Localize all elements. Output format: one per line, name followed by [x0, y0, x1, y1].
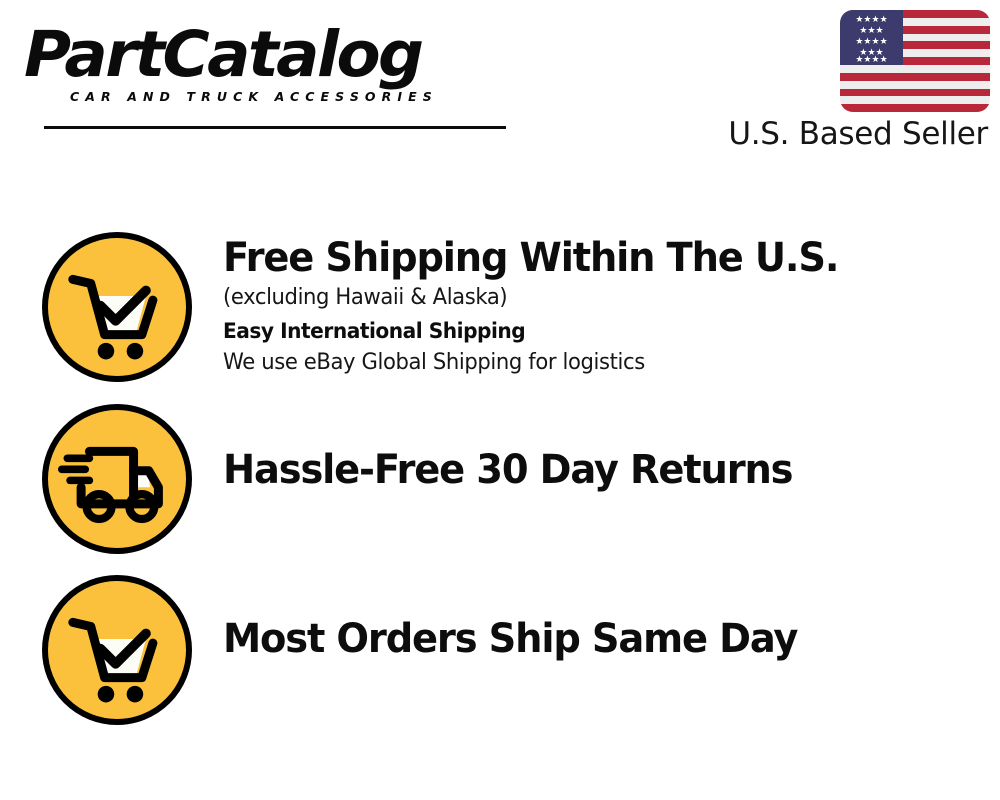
feature-sub-title: Easy International Shipping [223, 314, 838, 348]
feature-sub-note: We use eBay Global Shipping for logistic… [223, 348, 838, 378]
brand-tagline: CAR AND TRUCK ACCESSORIES [70, 89, 494, 104]
feature-row: Free Shipping Within The U.S. (excluding… [0, 232, 1000, 382]
brand-wordmark: PartCatalog [24, 22, 503, 88]
us-based-seller-label: U.S. Based Seller [728, 116, 988, 152]
feature-title: Free Shipping Within The U.S. [223, 234, 838, 282]
delivery-truck-icon [42, 404, 192, 554]
brand-underline [44, 126, 506, 129]
shopping-cart-check-icon [42, 575, 192, 725]
feature-title: Most Orders Ship Same Day [223, 615, 797, 663]
feature-text-block: Free Shipping Within The U.S. (excluding… [223, 232, 864, 378]
us-flag-badge: ★★★★ ★★★ ★★★★ ★★★ ★★★★ [840, 10, 990, 112]
brand-logo[interactable]: PartCatalog CAR AND TRUCK ACCESSORIES [24, 22, 494, 114]
feature-text-block: Most Orders Ship Same Day [223, 575, 821, 663]
feature-text-block: Hassle-Free 30 Day Returns [223, 404, 816, 494]
us-flag-icon: ★★★★ ★★★ ★★★★ ★★★ ★★★★ [840, 10, 990, 112]
shopping-cart-check-icon [42, 232, 192, 382]
feature-title: Hassle-Free 30 Day Returns [223, 446, 792, 494]
feature-row: Hassle-Free 30 Day Returns [0, 404, 1000, 554]
page-header: PartCatalog CAR AND TRUCK ACCESSORIES ★★… [0, 0, 1000, 170]
feature-row: Most Orders Ship Same Day [0, 575, 1000, 725]
feature-note: (excluding Hawaii & Alaska) [223, 282, 838, 314]
